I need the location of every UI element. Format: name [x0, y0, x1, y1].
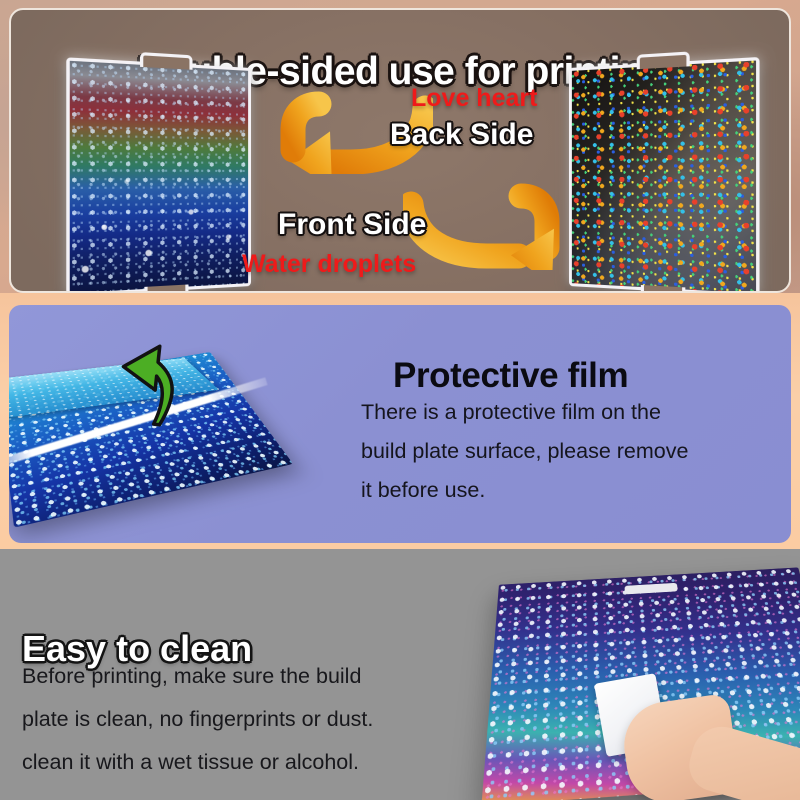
build-plate-back-side [569, 57, 760, 293]
label-front-side: Front Side [278, 208, 426, 242]
plate-tab-icon [140, 52, 193, 70]
body-line: plate is clean, no fingerprints or dust. [22, 698, 492, 741]
panel-double-sided-use: Double-sided use for printing [9, 8, 791, 293]
curved-arrow-right-icon [403, 178, 568, 275]
plate-body-droplets [66, 57, 251, 293]
body-line: it before use. [361, 471, 781, 510]
label-love-heart: Love heart [411, 84, 537, 113]
body-line: clean it with a wet tissue or alcohol. [22, 741, 492, 784]
body-line: Before printing, make sure the build [22, 655, 492, 698]
plate-notch-icon [641, 285, 686, 293]
plate-body-hearts [569, 57, 760, 293]
infographic-page: Double-sided use for printing [0, 0, 800, 800]
protective-film-body: There is a protective film on the build … [361, 393, 781, 510]
body-line: There is a protective film on the [361, 393, 781, 432]
peel-arrow-green-icon [112, 332, 198, 433]
body-line: build plate surface, please remove [361, 432, 781, 471]
love-heart-texture [572, 60, 756, 293]
easy-to-clean-body: Before printing, make sure the build pla… [22, 655, 492, 784]
cleaning-photo [440, 560, 800, 800]
plate-notch-icon [144, 284, 188, 293]
plate-tab-icon [637, 51, 690, 69]
protective-film-heading: Protective film [393, 356, 628, 396]
water-droplet-texture [70, 61, 248, 293]
build-plate-front-side [66, 57, 251, 293]
label-back-side: Back Side [390, 118, 533, 152]
plate-tab-icon [624, 583, 677, 595]
label-water-droplets: Water droplets [242, 250, 416, 279]
